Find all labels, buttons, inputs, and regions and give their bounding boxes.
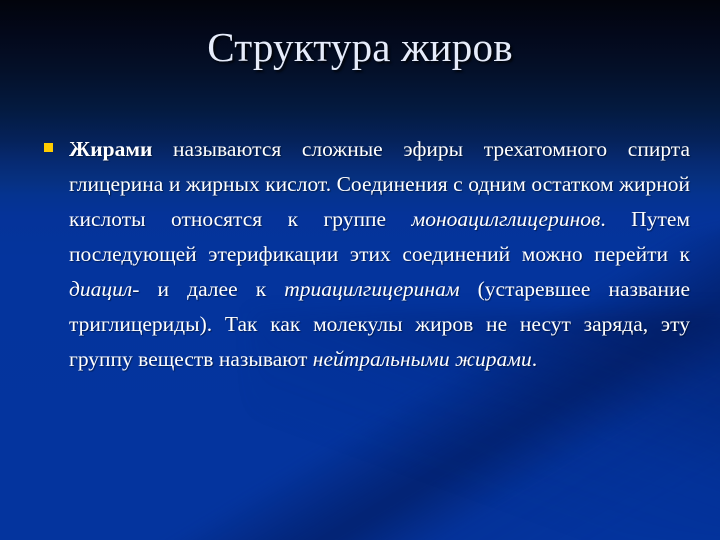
square-bullet-icon — [44, 143, 53, 152]
text-segment-2: моноацилглицеринов — [412, 207, 601, 231]
slide-title: Структура жиров — [0, 26, 720, 69]
text-segment-0: Жирами — [69, 137, 152, 161]
presentation-slide: Структура жиров Жирами называются сложны… — [0, 0, 720, 540]
text-segment-4: диацил- — [69, 277, 139, 301]
text-segment-6: триацилгицеринам — [284, 277, 459, 301]
text-segment-5: и далее к — [139, 277, 284, 301]
text-segment-9: . — [532, 347, 537, 371]
text-segment-8: нейтральными жирами — [313, 347, 532, 371]
bullet-list-item: Жирами называются сложные эфиры трехатом… — [44, 132, 690, 377]
bullet-item-text: Жирами называются сложные эфиры трехатом… — [69, 132, 690, 377]
slide-body: Жирами называются сложные эфиры трехатом… — [44, 132, 690, 377]
